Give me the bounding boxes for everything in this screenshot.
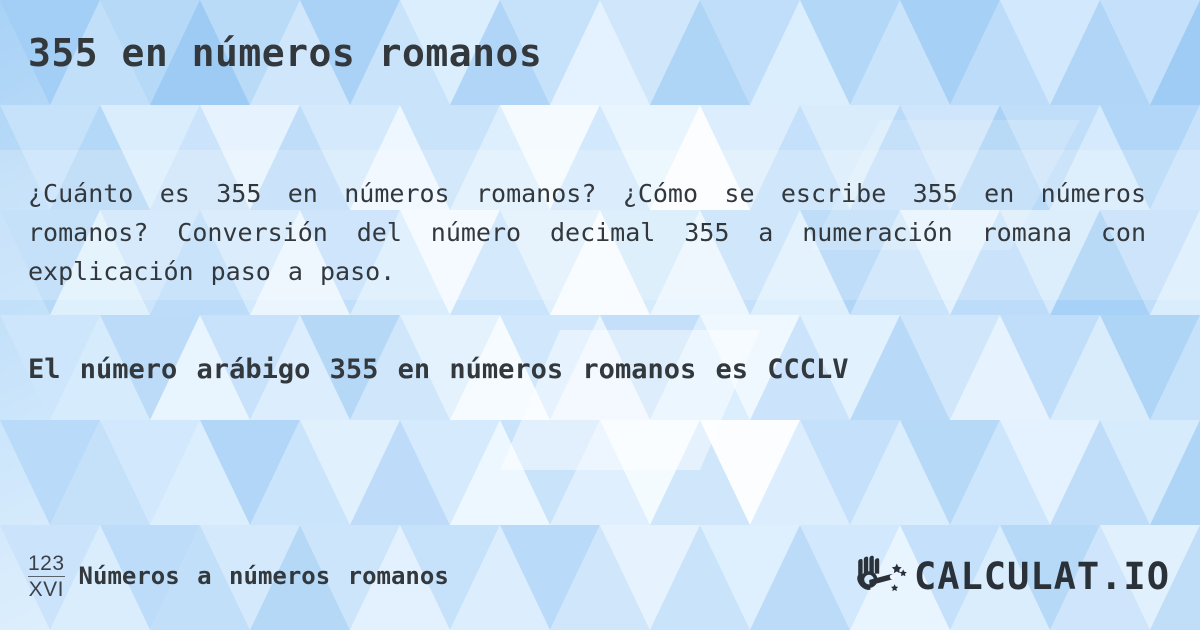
brand-wordmark: CALCULAT.IO xyxy=(914,555,1170,598)
page-title: 355 en números romanos xyxy=(28,33,542,75)
number-conversion-icon: 123 XVI xyxy=(28,553,65,600)
icon-arabic-digits: 123 xyxy=(28,553,65,577)
hand-magic-wand-icon xyxy=(856,555,908,597)
answer-statement: El número arábigo 355 en números romanos… xyxy=(28,348,1088,392)
intro-paragraph: ¿Cuánto es 355 en números romanos? ¿Cómo… xyxy=(28,174,1146,291)
footer-converter-label: Números a números romanos xyxy=(79,562,449,590)
share-card: 355 en números romanos ¿Cuánto es 355 en… xyxy=(0,0,1200,630)
icon-roman-digits: XVI xyxy=(29,577,64,600)
footer-converter-link[interactable]: 123 XVI Números a números romanos xyxy=(28,548,449,604)
footer: 123 XVI Números a números romanos xyxy=(0,548,1200,604)
brand-logo[interactable]: CALCULAT.IO xyxy=(856,548,1170,604)
